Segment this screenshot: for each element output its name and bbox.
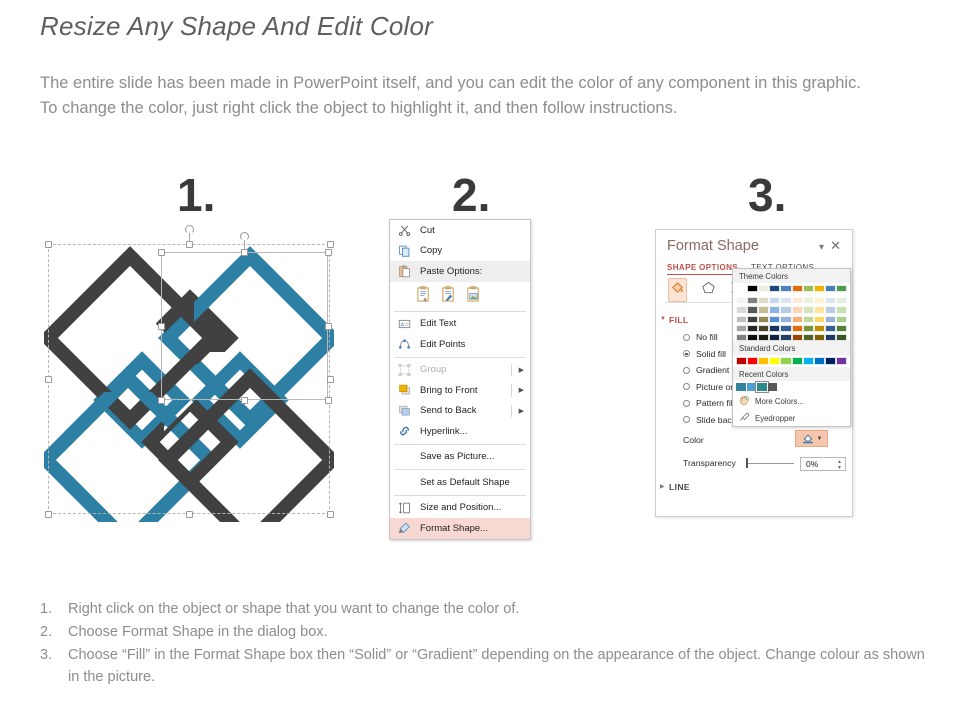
theme-color-swatch[interactable] [825, 297, 836, 304]
resize-handle-n[interactable] [186, 241, 193, 248]
menu-item-edit-text[interactable]: A Edit Text [390, 314, 530, 335]
menu-item-label: Edit Points [420, 339, 465, 350]
theme-color-swatch[interactable] [825, 316, 836, 323]
theme-color-swatch[interactable] [758, 306, 769, 313]
recent-colors-header: Recent Colors [733, 367, 850, 381]
tab-shape-options[interactable]: SHAPE OPTIONS [667, 263, 738, 275]
theme-colors-tint-row[interactable] [733, 304, 850, 313]
resize-handle-se[interactable] [327, 511, 334, 518]
menu-item-label: Size and Position... [420, 502, 501, 513]
radio-icon[interactable] [683, 334, 690, 341]
theme-color-swatch[interactable] [769, 316, 780, 323]
rotate-handle-inner[interactable] [240, 232, 249, 241]
chevron-down-icon[interactable]: ▼ [817, 436, 823, 442]
slide-canvas: Resize Any Shape And Edit Color The enti… [0, 0, 960, 720]
menu-item-label: Set as Default Shape [420, 477, 510, 488]
menu-item-edit-points[interactable]: Edit Points [390, 334, 530, 355]
menu-item-save-as-picture[interactable]: Save as Picture... [390, 447, 530, 468]
paste-options-row[interactable]: a [390, 282, 530, 309]
instruction-number: 2. [40, 621, 68, 643]
standard-colors-row[interactable] [733, 355, 850, 367]
standard-color-swatch[interactable] [814, 357, 825, 365]
menu-item-paste-options[interactable]: Paste Options: [390, 261, 530, 282]
more-colors-item[interactable]: More Colors... [733, 393, 850, 410]
instruction-text: Right click on the object or shape that … [68, 598, 940, 620]
standard-color-swatch[interactable] [836, 357, 847, 365]
paste-merge-formatting-icon[interactable] [441, 286, 456, 304]
theme-color-swatch[interactable] [769, 334, 780, 341]
theme-colors-tint-row[interactable] [733, 314, 850, 323]
section-line-header[interactable]: LINE [669, 482, 690, 492]
theme-color-swatch[interactable] [747, 334, 758, 341]
menu-item-label: Save as Picture... [420, 451, 494, 462]
transparency-value: 0% [806, 459, 818, 469]
theme-color-swatch[interactable] [736, 285, 747, 292]
menu-item-bring-to-front[interactable]: Bring to Front ▶ [390, 380, 530, 401]
menu-item-cut[interactable]: Cut [390, 220, 530, 241]
theme-color-swatch[interactable] [836, 316, 847, 323]
paste-keep-formatting-icon[interactable]: a [416, 286, 431, 304]
fill-color-button[interactable]: ▼ [795, 430, 828, 447]
theme-color-swatch[interactable] [758, 325, 769, 332]
inner-handle-w[interactable] [158, 323, 165, 330]
theme-color-swatch[interactable] [736, 316, 747, 323]
menu-item-label: Cut [420, 225, 435, 236]
theme-color-swatch[interactable] [836, 306, 847, 313]
format-shape-title: Format Shape [667, 238, 759, 254]
fill-bucket-icon[interactable] [668, 278, 687, 302]
theme-color-swatch[interactable] [758, 297, 769, 304]
menu-item-label: Group [420, 364, 446, 375]
resize-handle-e[interactable] [327, 376, 334, 383]
theme-color-swatch[interactable] [780, 297, 791, 304]
color-label: Color [683, 435, 704, 445]
instruction-number: 1. [40, 598, 68, 620]
theme-color-swatch[interactable] [803, 334, 814, 341]
menu-separator [394, 444, 526, 445]
theme-color-swatch[interactable] [814, 306, 825, 313]
inner-handle-e[interactable] [325, 323, 332, 330]
theme-color-swatch[interactable] [792, 306, 803, 313]
theme-color-swatch[interactable] [814, 316, 825, 323]
format-shape-icon [397, 521, 412, 536]
theme-color-swatch[interactable] [769, 325, 780, 332]
theme-color-swatch[interactable] [747, 316, 758, 323]
standard-color-swatch[interactable] [769, 357, 780, 365]
menu-item-label: Format Shape... [420, 523, 488, 534]
rotate-stem-outer [189, 233, 190, 242]
resize-handle-ne[interactable] [327, 241, 334, 248]
menu-divider [511, 364, 512, 377]
theme-color-swatch[interactable] [769, 306, 780, 313]
menu-item-format-shape[interactable]: Format Shape... [390, 518, 530, 539]
fill-option-label: No fill [696, 332, 718, 342]
theme-colors-base-row[interactable] [733, 283, 850, 292]
inner-handle-nw[interactable] [158, 249, 165, 256]
scissors-icon [397, 223, 412, 238]
inner-handle-n[interactable] [241, 249, 248, 256]
theme-color-swatch[interactable] [747, 285, 758, 292]
eyedropper-icon [739, 412, 750, 425]
recent-color-swatch[interactable] [768, 383, 778, 391]
menu-separator [394, 311, 526, 312]
resize-handle-s[interactable] [186, 511, 193, 518]
standard-color-swatch[interactable] [792, 357, 803, 365]
theme-colors-tint-row[interactable] [733, 295, 850, 304]
theme-color-swatch[interactable] [814, 334, 825, 341]
paste-icon [397, 264, 412, 279]
theme-colors-header: Theme Colors [733, 269, 850, 283]
spinner-arrows-icon[interactable]: ▲▼ [837, 459, 842, 471]
transparency-slider-track[interactable] [748, 463, 794, 464]
standard-colors-header: Standard Colors [733, 341, 850, 355]
theme-color-swatch[interactable] [803, 285, 814, 292]
menu-item-set-as-default-shape[interactable]: Set as Default Shape [390, 472, 530, 493]
svg-text:A: A [400, 322, 404, 328]
theme-colors-tint-grid[interactable] [733, 295, 850, 341]
recent-colors-row[interactable] [733, 381, 850, 393]
rotate-handle-outer[interactable] [185, 225, 194, 234]
menu-item-size-and-position[interactable]: Size and Position... [390, 498, 530, 519]
step-number-2: 2. [452, 172, 490, 218]
resize-handle-w[interactable] [45, 376, 52, 383]
send-back-icon [397, 403, 412, 418]
instruction-number: 3. [40, 644, 68, 688]
step-number-1: 1. [177, 172, 215, 218]
menu-item-group: Group ▶ [390, 360, 530, 381]
radio-icon[interactable] [683, 367, 690, 374]
theme-color-swatch[interactable] [803, 297, 814, 304]
theme-color-swatch[interactable] [758, 334, 769, 341]
menu-divider [511, 384, 512, 397]
radio-icon[interactable] [683, 400, 690, 407]
menu-item-label: Copy [420, 245, 442, 256]
theme-color-swatch[interactable] [780, 316, 791, 323]
theme-color-swatch[interactable] [803, 325, 814, 332]
theme-color-swatch[interactable] [803, 316, 814, 323]
theme-color-swatch[interactable] [814, 285, 825, 292]
theme-color-swatch[interactable] [825, 334, 836, 341]
fill-option-label: Pattern fill [696, 398, 735, 408]
chevron-right-icon: ▶ [519, 386, 524, 394]
instruction-item: 2. Choose Format Shape in the dialog box… [40, 621, 940, 643]
standard-color-swatch[interactable] [803, 357, 814, 365]
menu-separator [394, 357, 526, 358]
transparency-slider-handle[interactable] [746, 458, 748, 468]
intro-paragraph: The entire slide has been made in PowerP… [40, 71, 864, 121]
theme-colors-tint-row[interactable] [733, 323, 850, 332]
standard-color-swatch[interactable] [747, 357, 758, 365]
transparency-value-input[interactable]: 0% ▲▼ [800, 457, 846, 471]
menu-separator [394, 495, 526, 496]
eyedropper-item[interactable]: Eyedropper [733, 410, 850, 427]
section-fill-header[interactable]: FILL [669, 315, 689, 325]
step-number-3: 3. [748, 172, 786, 218]
line-expand-icon[interactable]: ▶ [660, 483, 665, 490]
menu-item-label: Bring to Front [420, 385, 478, 396]
menu-item-hyperlink[interactable]: Hyperlink... [390, 421, 530, 442]
theme-color-swatch[interactable] [758, 316, 769, 323]
menu-divider [511, 405, 512, 418]
chevron-right-icon: ▶ [519, 366, 524, 374]
theme-color-swatch[interactable] [792, 285, 803, 292]
theme-color-swatch[interactable] [780, 306, 791, 313]
menu-item-label: Paste Options: [420, 266, 482, 277]
theme-color-swatch[interactable] [736, 306, 747, 313]
radio-icon-selected[interactable] [683, 350, 690, 357]
fill-option-label: Solid fill [696, 349, 726, 359]
fill-expand-icon[interactable]: ▼ [660, 316, 666, 322]
theme-color-swatch[interactable] [747, 325, 758, 332]
theme-color-swatch[interactable] [803, 306, 814, 313]
menu-item-send-to-back[interactable]: Send to Back ▶ [390, 401, 530, 422]
standard-color-swatch[interactable] [825, 357, 836, 365]
instruction-item: 3. Choose “Fill” in the Format Shape box… [40, 644, 940, 688]
theme-color-swatch[interactable] [792, 334, 803, 341]
menu-separator [394, 469, 526, 470]
pane-options-icon[interactable]: ▾ [819, 242, 824, 253]
copy-icon [397, 243, 412, 258]
theme-color-swatch[interactable] [747, 306, 758, 313]
inner-handle-sw[interactable] [158, 397, 165, 404]
theme-color-swatch[interactable] [814, 325, 825, 332]
shape-graphic-stage[interactable] [44, 232, 334, 522]
theme-color-swatch[interactable] [836, 334, 847, 341]
theme-color-swatch[interactable] [769, 285, 780, 292]
theme-color-swatch[interactable] [792, 325, 803, 332]
theme-color-swatch[interactable] [825, 325, 836, 332]
inner-handle-ne[interactable] [325, 249, 332, 256]
inner-handle-se[interactable] [325, 397, 332, 404]
more-colors-label: More Colors... [755, 397, 804, 406]
theme-color-swatch[interactable] [814, 297, 825, 304]
recent-color-swatch[interactable] [736, 383, 746, 391]
paint-bucket-icon [801, 432, 815, 445]
page-title: Resize Any Shape And Edit Color [40, 11, 433, 42]
instruction-text: Choose “Fill” in the Format Shape box th… [68, 644, 940, 688]
theme-color-swatch[interactable] [736, 334, 747, 341]
recent-color-swatch[interactable] [757, 383, 767, 391]
theme-color-swatch[interactable] [736, 325, 747, 332]
theme-color-swatch[interactable] [825, 306, 836, 313]
theme-color-swatch[interactable] [769, 297, 780, 304]
standard-color-swatch[interactable] [758, 357, 769, 365]
radio-icon[interactable] [683, 383, 690, 390]
instructions-list: 1. Right click on the object or shape th… [40, 598, 940, 689]
theme-color-swatch[interactable] [792, 297, 803, 304]
inner-handle-s[interactable] [241, 397, 248, 404]
instruction-text: Choose Format Shape in the dialog box. [68, 621, 940, 643]
theme-color-swatch[interactable] [780, 334, 791, 341]
standard-color-swatch[interactable] [780, 357, 791, 365]
edit-points-icon [397, 337, 412, 352]
rotate-stem-inner [244, 240, 245, 249]
theme-color-swatch[interactable] [780, 325, 791, 332]
menu-item-label: Edit Text [420, 318, 456, 329]
theme-color-swatch[interactable] [792, 316, 803, 323]
context-menu[interactable]: Cut Copy Paste Options: [389, 219, 531, 540]
theme-color-swatch[interactable] [780, 285, 791, 292]
hyperlink-icon [397, 424, 412, 439]
standard-color-swatch[interactable] [736, 357, 747, 365]
theme-color-swatch[interactable] [736, 297, 747, 304]
theme-color-swatch[interactable] [758, 285, 769, 292]
resize-handle-nw[interactable] [45, 241, 52, 248]
resize-handle-sw[interactable] [45, 511, 52, 518]
menu-item-label: Send to Back [420, 405, 477, 416]
edit-text-icon: A [397, 316, 412, 331]
palette-icon [739, 395, 750, 408]
size-position-icon [397, 500, 412, 515]
instruction-item: 1. Right click on the object or shape th… [40, 598, 940, 620]
theme-color-swatch[interactable] [836, 285, 847, 292]
transparency-label: Transparency [683, 458, 736, 468]
paste-picture-icon[interactable] [466, 286, 481, 304]
selection-bounds-inner [161, 252, 328, 400]
theme-color-swatch[interactable] [747, 297, 758, 304]
bring-front-icon [397, 383, 412, 398]
menu-item-copy[interactable]: Copy [390, 241, 530, 262]
close-icon[interactable]: ✕ [830, 239, 841, 252]
radio-icon[interactable] [683, 416, 690, 423]
eyedropper-label: Eyedropper [755, 414, 795, 423]
effects-pentagon-icon[interactable] [701, 280, 716, 300]
color-picker-flyout[interactable]: Theme Colors Standard Colors Recent Colo… [732, 268, 851, 427]
menu-item-label: Hyperlink... [420, 426, 468, 437]
chevron-right-icon: ▶ [519, 407, 524, 415]
theme-color-swatch[interactable] [836, 297, 847, 304]
theme-color-swatch[interactable] [836, 325, 847, 332]
theme-colors-tint-row[interactable] [733, 332, 850, 341]
theme-color-swatch[interactable] [825, 285, 836, 292]
group-icon [397, 362, 412, 377]
recent-color-swatch[interactable] [747, 383, 757, 391]
